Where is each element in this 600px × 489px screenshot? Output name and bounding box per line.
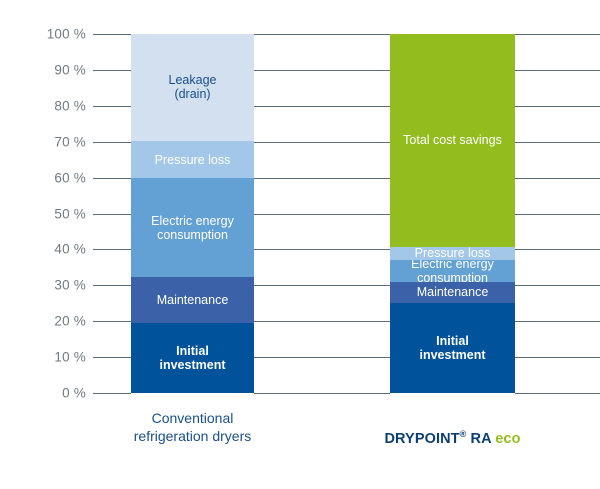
- bar-segment-label: Pressure loss: [152, 153, 234, 167]
- brand-name: DRYPOINT: [384, 431, 459, 447]
- stacked-bar-chart: 100 %90 %80 %70 %60 %50 %40 %30 %20 %10 …: [0, 0, 600, 489]
- bar-segment[interactable]: Initial investment: [390, 303, 515, 393]
- bar-segment[interactable]: Maintenance: [390, 282, 515, 304]
- bar-segment[interactable]: Maintenance: [131, 277, 254, 323]
- bar-segment[interactable]: Total cost savings: [390, 34, 515, 247]
- bar-segment[interactable]: Leakage (drain): [131, 34, 254, 141]
- bar-segment[interactable]: Electric energy consumption: [131, 178, 254, 277]
- bar-segment-label: Leakage (drain): [166, 73, 220, 101]
- bar-segment-label: Maintenance: [154, 293, 232, 307]
- bar-segment-label: Pressure loss: [412, 247, 494, 261]
- bar-segment-label: Electric energy consumption: [408, 260, 497, 282]
- bar-segment[interactable]: Pressure loss: [390, 247, 515, 261]
- bar-segment[interactable]: Pressure loss: [131, 141, 254, 178]
- bar-segment-label: Initial investment: [417, 334, 489, 362]
- bar-segment-label: Total cost savings: [400, 133, 505, 147]
- bar-segment-label: Electric energy consumption: [148, 214, 237, 242]
- bar-segment[interactable]: Electric energy consumption: [390, 260, 515, 282]
- bar-conventional[interactable]: Leakage (drain)Pressure lossElectric ene…: [131, 34, 254, 393]
- category-label-conventional: Conventional refrigeration dryers: [101, 410, 284, 445]
- bar-segment[interactable]: Initial investment: [131, 323, 254, 393]
- brand-eco: eco: [495, 431, 520, 447]
- bar-segment-label: Initial investment: [157, 344, 229, 372]
- brand-model: RA: [466, 431, 495, 447]
- bar-drypoint[interactable]: Total cost savingsPressure lossElectric …: [390, 34, 515, 393]
- category-label-drypoint: DRYPOINT® RA eco: [360, 411, 545, 448]
- bar-segment-label: Maintenance: [414, 285, 492, 299]
